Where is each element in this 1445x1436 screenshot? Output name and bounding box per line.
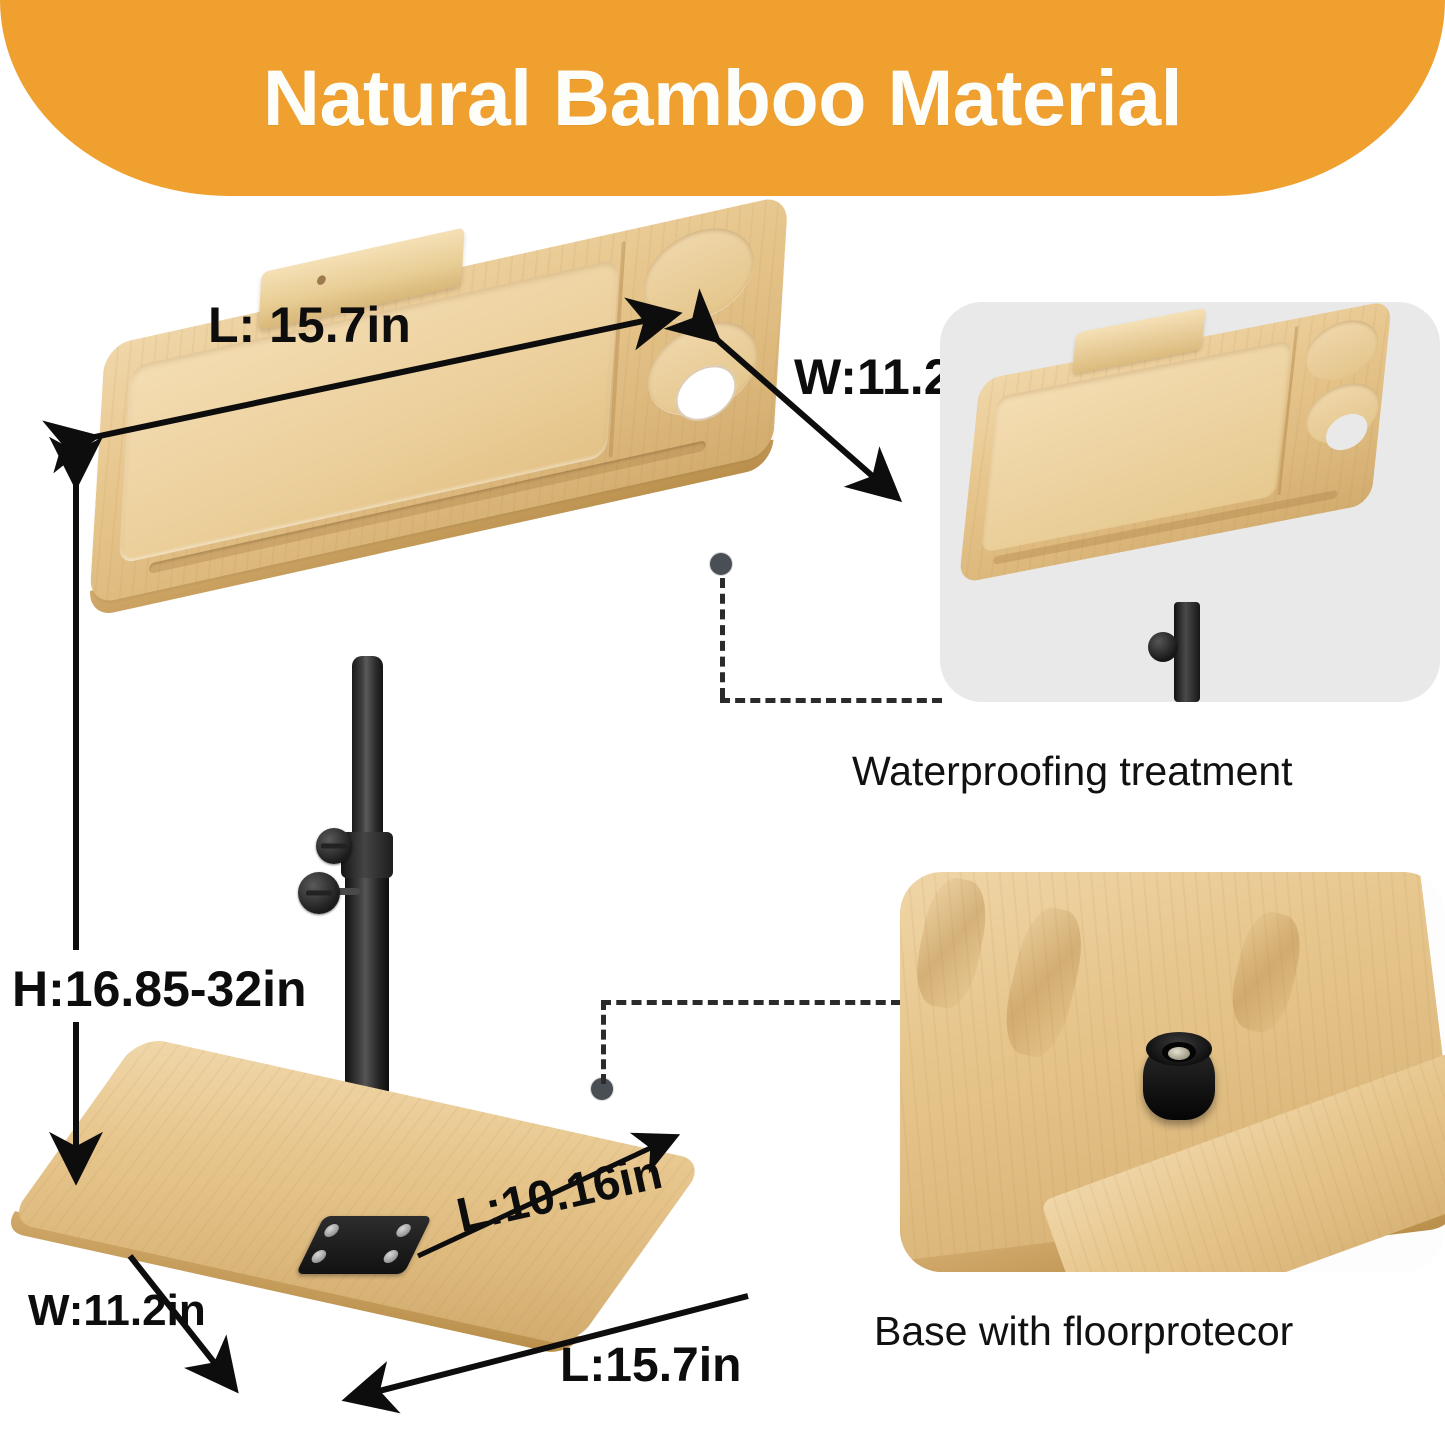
caption-floor-protector: Base with floorprotecor (874, 1308, 1293, 1355)
floor-protector-screw (1168, 1047, 1190, 1060)
inset-cup-holder-top (1302, 314, 1381, 386)
inset-panel-waterproofing (940, 302, 1440, 702)
leader-horizontal-floor-protector (601, 1000, 901, 1005)
grain-mark-1 (909, 874, 993, 1013)
grain-mark-2 (997, 902, 1091, 1062)
inset-laptop-recess (981, 340, 1292, 553)
inset-adjust-knob (1148, 632, 1178, 662)
grain-mark-3 (1224, 907, 1308, 1037)
inset-tabletop (959, 302, 1393, 584)
inset-panel-floor-protector (900, 872, 1445, 1272)
leader-vertical-floor-protector (601, 1000, 606, 1084)
inset-pole (1174, 602, 1200, 702)
caption-waterproofing: Waterproofing treatment (852, 748, 1293, 795)
